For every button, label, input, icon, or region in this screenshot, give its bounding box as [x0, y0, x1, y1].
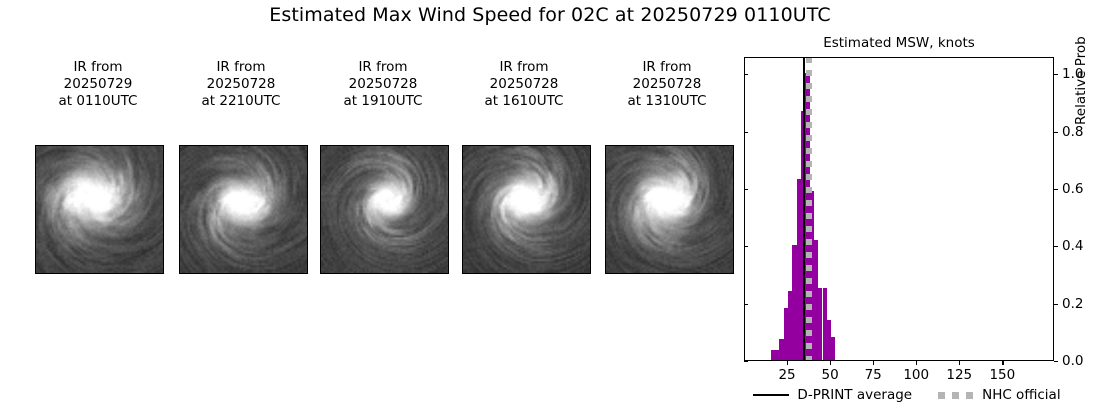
- y-axis-tick-left: [744, 132, 748, 133]
- histogram-bar: [831, 337, 835, 360]
- ir-image-0: [35, 145, 164, 274]
- y-axis-tick-left: [744, 189, 748, 190]
- legend-item-nhc: NHC official: [938, 387, 1060, 403]
- legend-item-dprint: D-PRINT average: [753, 387, 912, 403]
- ir-panel-caption-3: IR from 20250728 at 1610UTC: [444, 59, 604, 110]
- ir-image-2: [320, 145, 449, 274]
- ir-caption-line3: at 1610UTC: [444, 93, 604, 110]
- page-title: Estimated Max Wind Speed for 02C at 2025…: [0, 4, 1100, 26]
- x-axis-tick: [873, 361, 874, 365]
- dotted-line-icon: [938, 392, 974, 399]
- ir-panel-caption-2: IR from 20250728 at 1910UTC: [303, 59, 463, 110]
- solid-line-icon: [753, 394, 789, 396]
- x-axis-tick: [1002, 361, 1003, 365]
- y-axis-tick-left: [744, 361, 748, 362]
- ir-caption-line2: 20250729: [18, 76, 178, 93]
- x-axis-tick: [959, 361, 960, 365]
- y-axis-tick: [1054, 189, 1058, 190]
- y-axis-tick: [1054, 74, 1058, 75]
- ir-image-4: [605, 145, 734, 274]
- y-axis-tick: [1054, 361, 1058, 362]
- ir-panel-caption-0: IR from 20250729 at 0110UTC: [18, 59, 178, 110]
- ir-caption-line1: IR from: [303, 59, 463, 76]
- ir-image-3: [462, 145, 591, 274]
- y-axis-tick-left: [744, 246, 748, 247]
- chart-legend: D-PRINT average NHC official: [744, 384, 1070, 406]
- ir-caption-line3: at 1310UTC: [587, 93, 747, 110]
- x-axis-tick: [787, 361, 788, 365]
- x-axis-tick: [916, 361, 917, 365]
- ir-caption-line2: 20250728: [303, 76, 463, 93]
- dprint-average-line: [803, 58, 805, 360]
- y-axis-tick: [1054, 132, 1058, 133]
- x-axis-tick: [830, 361, 831, 365]
- ir-caption-line1: IR from: [18, 59, 178, 76]
- y-axis-tick-left: [744, 74, 748, 75]
- y-axis-tick-label: 0.6: [1062, 181, 1083, 197]
- ir-caption-line1: IR from: [444, 59, 604, 76]
- ir-panel-caption-1: IR from 20250728 at 2210UTC: [161, 59, 321, 110]
- nhc-official-line: [806, 58, 812, 360]
- y-axis-tick-left: [744, 304, 748, 305]
- y-axis-label: Relative Prob: [1073, 36, 1089, 125]
- legend-label-dprint: D-PRINT average: [797, 387, 912, 403]
- ir-caption-line2: 20250728: [161, 76, 321, 93]
- ir-caption-line3: at 1910UTC: [303, 93, 463, 110]
- ir-caption-line3: at 0110UTC: [18, 93, 178, 110]
- y-axis-tick-label: 0.2: [1062, 296, 1083, 312]
- ir-caption-line2: 20250728: [444, 76, 604, 93]
- legend-label-nhc: NHC official: [982, 387, 1060, 403]
- ir-panel-caption-4: IR from 20250728 at 1310UTC: [587, 59, 747, 110]
- y-axis-tick: [1054, 304, 1058, 305]
- figure-root: Estimated Max Wind Speed for 02C at 2025…: [0, 0, 1100, 409]
- ir-image-1: [179, 145, 308, 274]
- histogram-axes: [744, 57, 1054, 361]
- ir-caption-line2: 20250728: [587, 76, 747, 93]
- histogram-plot-area: [745, 58, 1053, 360]
- ir-caption-line1: IR from: [587, 59, 747, 76]
- y-axis-tick-label: 0.8: [1062, 124, 1083, 140]
- ir-caption-line3: at 2210UTC: [161, 93, 321, 110]
- y-axis-tick-label: 0.0: [1062, 353, 1083, 369]
- y-axis-tick: [1054, 246, 1058, 247]
- x-axis-tick-label: 150: [972, 367, 1032, 383]
- ir-caption-line1: IR from: [161, 59, 321, 76]
- y-axis-tick-label: 0.4: [1062, 238, 1083, 254]
- chart-title: Estimated MSW, knots: [744, 35, 1054, 51]
